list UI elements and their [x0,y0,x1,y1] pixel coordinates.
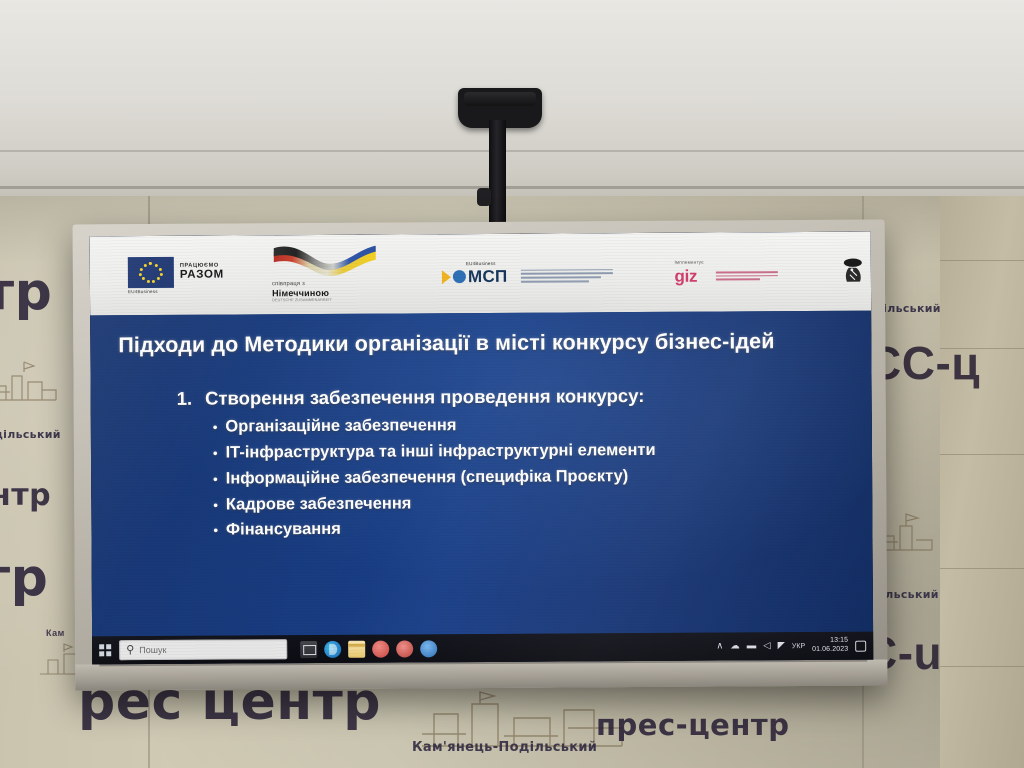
bullet-glyph: • [213,498,218,511]
tv-mount-arm [489,120,506,226]
slide-numbered-list: 1. Створення забезпечення проведення кон… [117,384,849,544]
logo-giz-caption: Імплементує [674,260,703,265]
wall-text-fragment: Кам [46,628,65,638]
notification-center-icon[interactable] [855,640,866,651]
tv-bottom-bezel [75,660,887,691]
logo-eu-wordmark: РАЗОМ [180,269,224,281]
logo-msp-caption: EU4Business [466,260,508,265]
microsoft-edge-icon[interactable] [324,640,341,657]
logo-giz-wordmark: giz [674,269,704,285]
powerpoint-slide[interactable]: EU4Business ПРАЦЮЄМО РАЗОМ [90,232,873,637]
search-icon: ⚲ [126,645,134,656]
logo-eu-footnote: EU4Business [128,289,158,294]
logo-msp: EU4Business МСП [442,260,613,287]
bullet-label: Кадрове забезпечення [226,491,412,518]
bullet-item: • Організаційне забезпечення [213,411,848,441]
volume-icon[interactable]: ◁ [763,641,770,651]
app-red-icon[interactable] [372,640,389,657]
list-item-index: 1. [177,388,193,410]
bullet-label: Організаційне забезпечення [225,414,456,441]
system-tray: ∧ ☁ ▬ ◁ ◤ УКР 13:15 01.06.2023 [716,637,869,655]
bullet-item: • Інформаційне забезпечення (специфіка П… [213,463,848,493]
bullet-label: Інформаційне забезпечення (специфіка Про… [226,464,629,492]
clock-time: 13:15 [830,637,848,646]
bullet-item: • Кадрове забезпечення [213,488,848,518]
network-icon[interactable]: ◤ [778,641,785,651]
logo-msp-ruled-text [520,269,612,282]
castle-sketch-icon [0,358,60,408]
slide-bullet-list: • Організаційне забезпечення • IT-інфрас… [213,411,849,544]
bullet-item: • Фінансування [213,514,848,544]
room-photo: тр к дільський нтр тр Кам рес центр Кам'… [0,0,1024,768]
search-placeholder: Пошук [139,645,166,655]
battery-icon[interactable]: ▬ [747,642,757,652]
start-button[interactable] [95,640,115,660]
keyboard-language-indicator[interactable]: УКР [792,643,805,650]
msp-arrow-icon [442,270,451,284]
onedrive-icon[interactable]: ☁ [730,642,740,652]
bullet-glyph: • [213,472,218,485]
television-bezel: EU4Business ПРАЦЮЄМО РАЗОМ [73,220,888,691]
eu-flag-icon [128,257,174,288]
bullet-glyph: • [213,524,218,537]
wall-text-city: Кам'янець-Подільський [412,740,597,755]
taskbar-clock[interactable]: 13:15 01.06.2023 [812,637,848,654]
german-ukrainian-ribbon-icon [270,246,382,281]
wall-text-fragment: нтр [0,478,51,513]
slide-logo-band: EU4Business ПРАЦЮЄМО РАЗОМ [90,232,871,316]
windows-logo-icon [99,645,110,656]
logo-giz: Імплементує giz [674,259,778,285]
wall-text-fragment: тр [0,262,52,322]
bullet-label: IT-інфраструктура та інші інфраструктурн… [225,438,655,466]
app-blue-icon[interactable] [420,640,437,657]
windows-taskbar: ⚲ Пошук ∧ ☁ ▬ ◁ [92,632,873,665]
wall-text-city: дільський [0,428,61,441]
app-red-2-icon[interactable] [396,640,413,657]
logo-coop-line2: Німеччиною [272,288,332,299]
ceiling-seam [0,186,1024,189]
city-emblem-icon [840,256,868,286]
wall-text-large: прес-центр [596,708,789,742]
search-input[interactable]: ⚲ Пошук [119,639,287,660]
logo-msp-wordmark: МСП [468,266,508,286]
bullet-label: Фінансування [226,517,341,543]
bullet-glyph: • [213,447,218,460]
numbered-list-item: 1. Створення забезпечення проведення кон… [177,384,848,410]
logo-eu-praciuemo-razom: EU4Business ПРАЦЮЄМО РАЗОМ [128,257,224,295]
logo-giz-ruled-text [716,271,778,281]
bullet-item: • IT-інфраструктура та інші інфраструкту… [213,437,848,467]
wall-text-fragment: тр [0,548,48,608]
task-view-icon[interactable] [300,640,317,657]
msp-dot-icon [453,270,466,283]
show-hidden-icons-icon[interactable]: ∧ [716,642,723,652]
slide-title: Підходи до Методики організації в місті … [116,327,847,359]
list-item-heading: Створення забезпечення проведення конкур… [205,385,644,410]
taskbar-app-icons [300,640,437,658]
ceiling-seam [0,150,1024,152]
logo-city-emblem [840,256,873,287]
side-wall [940,196,1024,768]
bullet-glyph: • [213,421,218,434]
logo-coop-line3: DEUTSCHE ZUSAMMENARBEIT [272,298,332,303]
tv-mount-knob [477,188,491,206]
windows-desktop: EU4Business ПРАЦЮЄМО РАЗОМ [90,232,874,665]
television-screen: EU4Business ПРАЦЮЄМО РАЗОМ [90,232,874,665]
logo-german-ukrainian-cooperation: співпраця з Німеччиною DEUTSCHE ZUSAMMEN… [268,246,384,303]
slide-content: Підходи до Методики організації в місті … [90,311,873,637]
file-explorer-icon[interactable] [348,640,365,657]
clock-date: 01.06.2023 [812,646,848,655]
